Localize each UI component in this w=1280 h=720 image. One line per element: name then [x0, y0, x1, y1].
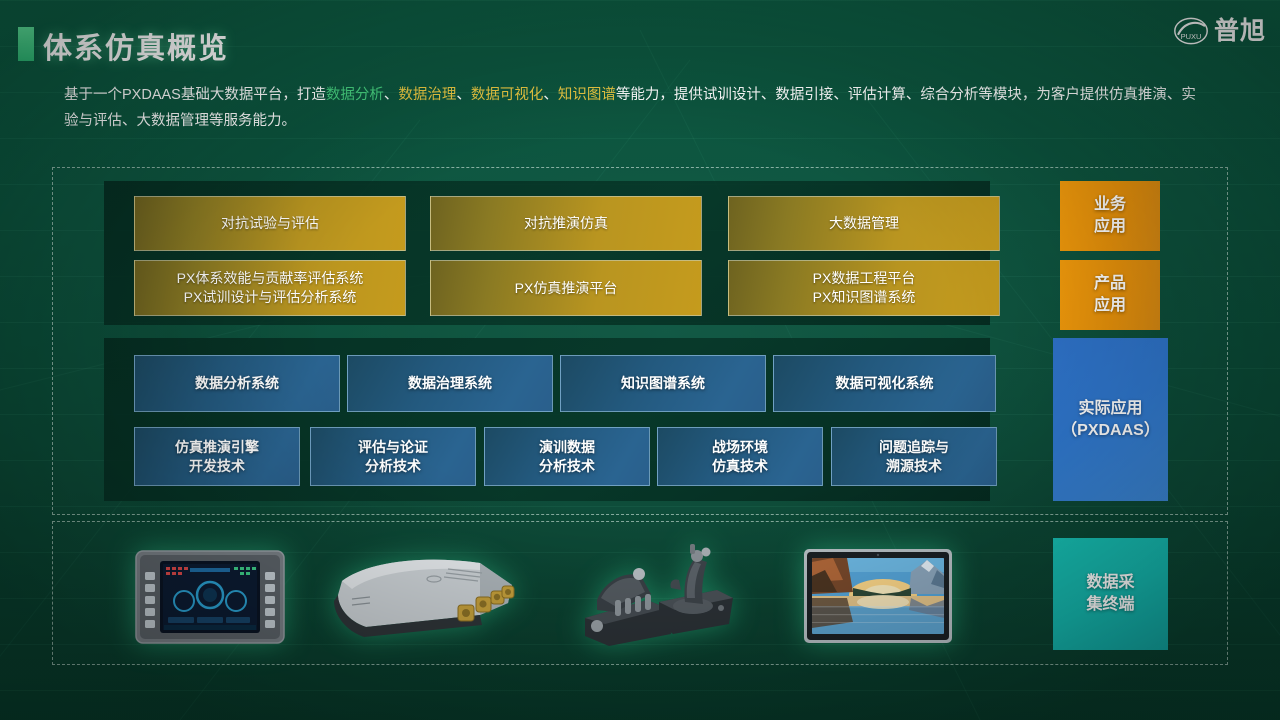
card-technology-0[interactable]: 仿真推演引擎 开发技术 [134, 427, 300, 486]
layer-label-data-collection[interactable]: 数据采 集终端 [1053, 538, 1168, 650]
layer-label-actual-application[interactable]: 实际应用 （PXDAAS） [1053, 338, 1168, 501]
intro-segment: 、 [384, 87, 399, 103]
brand-logo: PUXU 普旭 [1173, 16, 1266, 46]
joystick-throttle-controller-device [575, 540, 735, 650]
intro-segment: 数据分析 [326, 87, 384, 103]
intro-segment: 数据可视化 [471, 87, 544, 103]
intro-paragraph: 基于一个PXDAAS基础大数据平台，打造数据分析、数据治理、数据可视化、知识图谱… [64, 82, 1204, 134]
layer-label-product[interactable]: 产品 应用 [1060, 260, 1160, 330]
card-product-0[interactable]: PX体系效能与贡献率评估系统 PX试训设计与评估分析系统 [134, 260, 406, 316]
card-technology-1[interactable]: 评估与论证 分析技术 [310, 427, 476, 486]
card-product-2[interactable]: PX数据工程平台 PX知识图谱系统 [728, 260, 1000, 316]
intro-segment: 数据治理 [398, 87, 456, 103]
card-business-2[interactable]: 大数据管理 [728, 196, 1000, 251]
card-technology-2[interactable]: 演训数据 分析技术 [484, 427, 650, 486]
card-system-1[interactable]: 数据治理系统 [347, 355, 553, 412]
layer-label-business[interactable]: 业务 应用 [1060, 181, 1160, 251]
intro-segment: 、 [456, 87, 471, 103]
tablet-display-device [803, 548, 953, 644]
card-business-1[interactable]: 对抗推演仿真 [430, 196, 702, 251]
page-title: 体系仿真概览 [43, 25, 229, 67]
title-accent-bar [18, 27, 34, 61]
card-technology-3[interactable]: 战场环境 仿真技术 [657, 427, 823, 486]
hmi-touch-panel-device [134, 549, 286, 645]
card-product-1[interactable]: PX仿真推演平台 [430, 260, 702, 316]
puxu-swoosh-icon: PUXU [1173, 16, 1209, 46]
card-system-3[interactable]: 数据可视化系统 [773, 355, 996, 412]
card-system-0[interactable]: 数据分析系统 [134, 355, 340, 412]
card-business-0[interactable]: 对抗试验与评估 [134, 196, 406, 251]
logo-mark-text: PUXU [1181, 32, 1202, 41]
slide-root: 体系仿真概览 PUXU 普旭 基于一个PXDAAS基础大数据平台，打造数据分析、… [0, 0, 1280, 720]
tablet-wallpaper [812, 558, 944, 634]
data-acquisition-box-device [330, 555, 520, 641]
card-technology-4[interactable]: 问题追踪与 溯源技术 [831, 427, 997, 486]
intro-segment: 、 [543, 87, 558, 103]
page-header: 体系仿真概览 PUXU 普旭 [0, 0, 1280, 62]
intro-segment: 知识图谱 [558, 87, 616, 103]
intro-segment: 基于一个PXDAAS基础大数据平台，打造 [64, 87, 326, 103]
logo-wordmark: 普旭 [1214, 16, 1266, 46]
card-system-2[interactable]: 知识图谱系统 [560, 355, 766, 412]
